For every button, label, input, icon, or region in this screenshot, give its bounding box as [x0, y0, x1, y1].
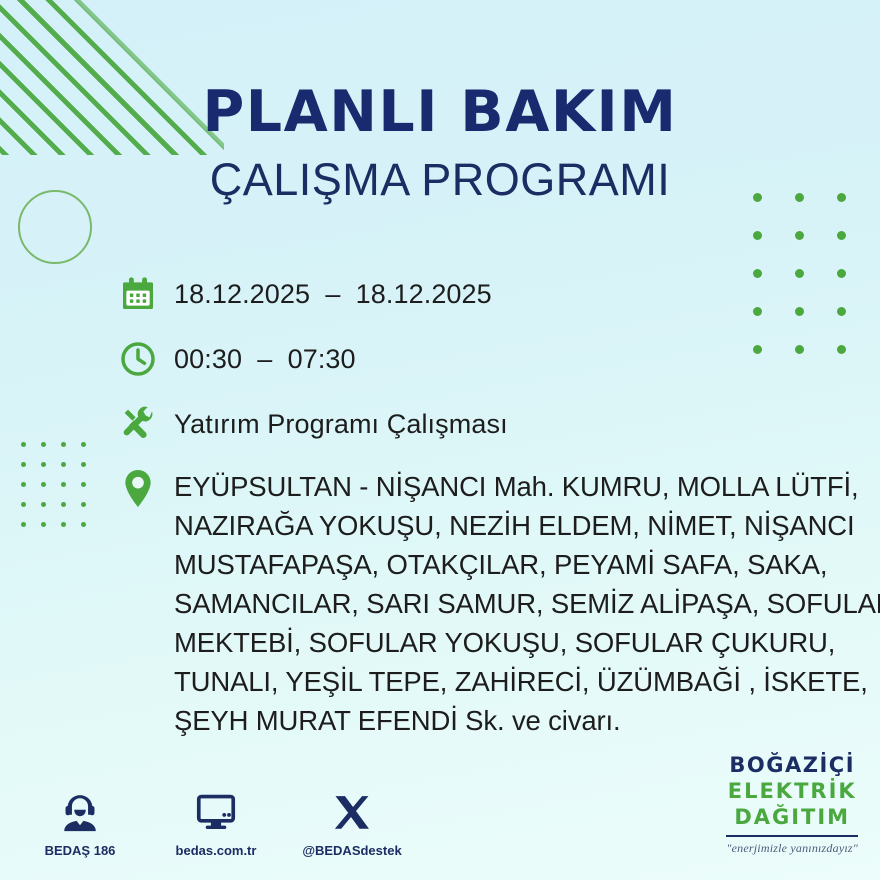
- page-title: PLANLI BAKIM: [0, 84, 880, 141]
- contact-website[interactable]: bedas.com.tr: [170, 788, 262, 858]
- address-line: MUSTAFAPAŞA, OTAKÇILAR, PEYAMİ SAFA, SAK…: [174, 545, 880, 584]
- work-type-value: Yatırım Programı Çalışması: [174, 402, 508, 446]
- address-line: TUNALI, YEŞİL TEPE, ZAHİRECİ, ÜZÜMBAĞİ ,…: [174, 662, 880, 701]
- address-line: SAMANCILAR, SARI SAMUR, SEMİZ ALİPAŞA, S…: [174, 584, 880, 623]
- tools-icon: [118, 402, 174, 446]
- x-twitter-icon: [332, 788, 372, 834]
- brand-tagline: "enerjimizle yanınızdayız": [726, 842, 858, 854]
- monitor-icon: [194, 788, 238, 834]
- contact-phone-label: BEDAŞ 186: [45, 843, 116, 858]
- address-line: ŞEYH MURAT EFENDİ Sk. ve civarı.: [174, 701, 880, 740]
- call-center-agent-icon: [58, 788, 102, 834]
- contact-social[interactable]: @BEDASdestek: [306, 788, 398, 858]
- address-line: EYÜPSULTAN - NİŞANCI Mah. KUMRU, MOLLA L…: [174, 467, 880, 506]
- address-line: MEKTEBİ, SOFULAR YOKUŞU, SOFULAR ÇUKURU,: [174, 623, 880, 662]
- contact-channels: BEDAŞ 186 bedas.com.tr: [34, 788, 398, 858]
- planned-maintenance-poster: PLANLI BAKIM ÇALIŞMA PROGRAMI: [0, 0, 880, 880]
- page-subtitle: ÇALIŞMA PROGRAMI: [0, 157, 880, 202]
- poster-header: PLANLI BAKIM ÇALIŞMA PROGRAMI: [0, 84, 880, 202]
- dot-grid-left-decoration: [13, 434, 93, 534]
- contact-social-label: @BEDASdestek: [302, 843, 401, 858]
- brand-line-dagitim: DAĞITIM: [726, 807, 858, 828]
- address-line: NAZIRAĞA YOKUŞU, NEZİH ELDEM, NİMET, NİŞ…: [174, 506, 880, 545]
- date-range-value: 18.12.2025 – 18.12.2025: [174, 272, 492, 316]
- contact-phone[interactable]: BEDAŞ 186: [34, 788, 126, 858]
- brand-divider: [726, 835, 858, 837]
- contact-website-label: bedas.com.tr: [176, 843, 257, 858]
- time-range-value: 00:30 – 07:30: [174, 337, 356, 381]
- brand-line-elektrik: ELEKTRİK: [726, 781, 858, 802]
- poster-footer: BEDAŞ 186 bedas.com.tr: [0, 758, 880, 864]
- detail-row-work-type: Yatırım Programı Çalışması: [118, 402, 860, 446]
- detail-row-time: 00:30 – 07:30: [118, 337, 860, 381]
- location-pin-icon: [118, 467, 174, 511]
- maintenance-details: 18.12.2025 – 18.12.2025 00:30 – 07:30 Ya…: [118, 272, 860, 740]
- bedas-logo: BOĞAZİÇİ ELEKTRİK DAĞITIM "enerjimizle y…: [726, 755, 858, 854]
- calendar-icon: [118, 272, 174, 316]
- brand-line-bogazici: BOĞAZİÇİ: [726, 755, 858, 776]
- detail-row-date: 18.12.2025 – 18.12.2025: [118, 272, 860, 316]
- clock-icon: [118, 337, 174, 381]
- address-text: EYÜPSULTAN - NİŞANCI Mah. KUMRU, MOLLA L…: [174, 467, 880, 740]
- detail-row-address: EYÜPSULTAN - NİŞANCI Mah. KUMRU, MOLLA L…: [118, 467, 860, 740]
